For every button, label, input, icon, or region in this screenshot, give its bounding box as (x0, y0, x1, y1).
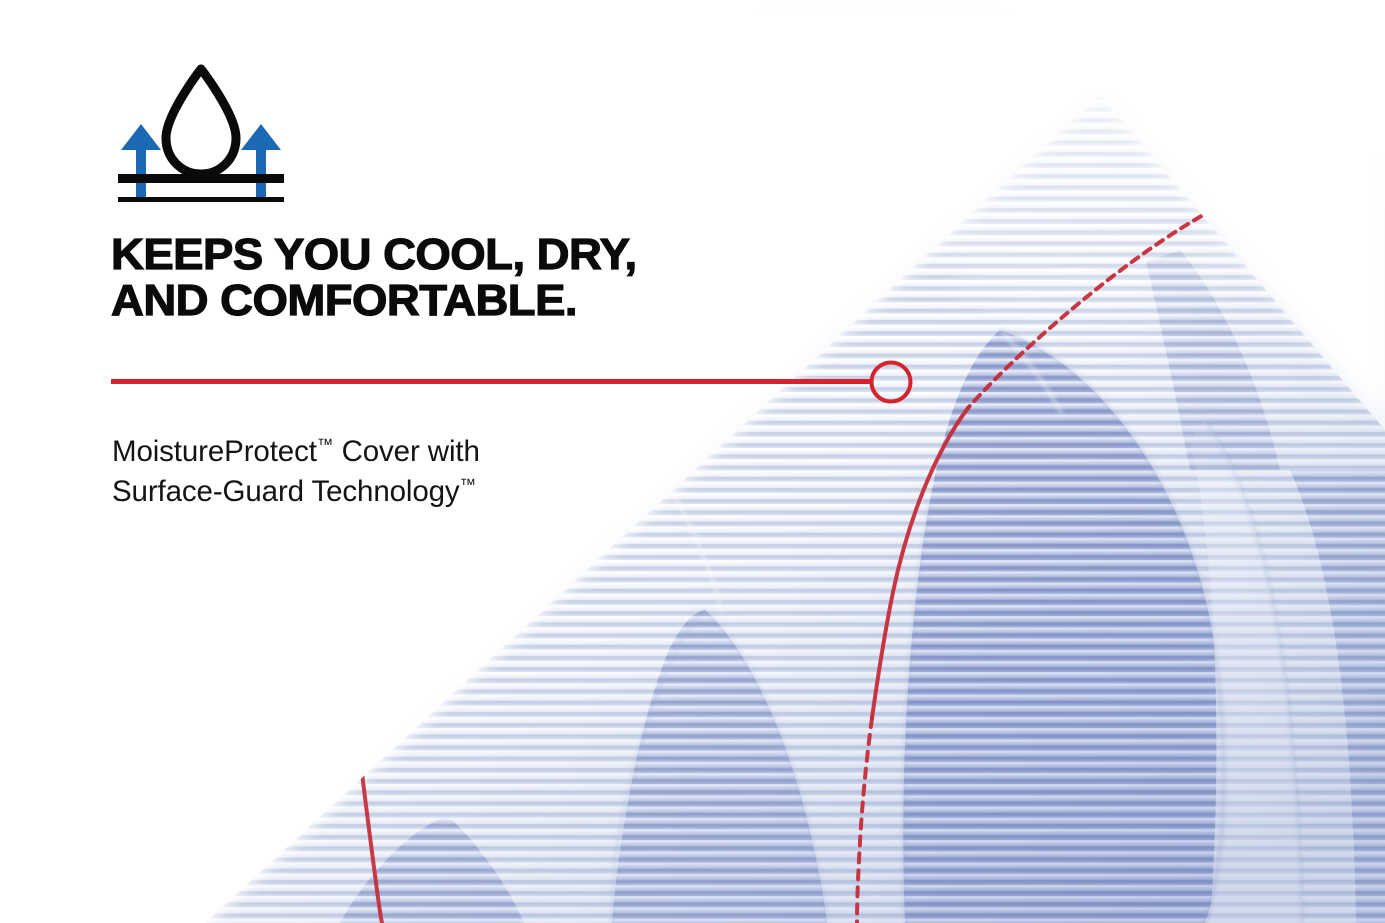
arrow-up-left-icon (121, 124, 161, 202)
surface-bar-top-overlay-icon (118, 174, 284, 183)
moisture-wicking-icon (112, 62, 290, 202)
callout-leader (110, 356, 920, 410)
arrow-up-right-icon (241, 124, 281, 202)
surface-bar-bottom-overlay-icon (118, 197, 284, 202)
product-name-moistureprotect: MoistureProtect (112, 435, 317, 468)
trademark-symbol-2: ™ (460, 475, 477, 494)
feature-description-line-2: Surface-Guard Technology™ (112, 472, 672, 512)
headline: KEEPS YOU COOL, DRY, AND COMFORTABLE. (111, 232, 773, 324)
feature-description-line-1-suffix: Cover with (334, 435, 480, 468)
feature-description: MoistureProtect™ Cover with Surface-Guar… (112, 432, 672, 512)
leader-node-circle (872, 363, 911, 402)
feature-panel: KEEPS YOU COOL, DRY, AND COMFORTABLE. Mo… (0, 0, 1385, 923)
product-name-surface-guard: Surface-Guard Technology (112, 475, 460, 508)
headline-line-1: KEEPS YOU COOL, DRY, (111, 232, 773, 278)
feature-description-line-1: MoistureProtect™ Cover with (112, 432, 672, 472)
trademark-symbol-1: ™ (317, 435, 334, 454)
water-droplet-icon (166, 69, 236, 174)
headline-line-2: AND COMFORTABLE. (111, 278, 773, 324)
